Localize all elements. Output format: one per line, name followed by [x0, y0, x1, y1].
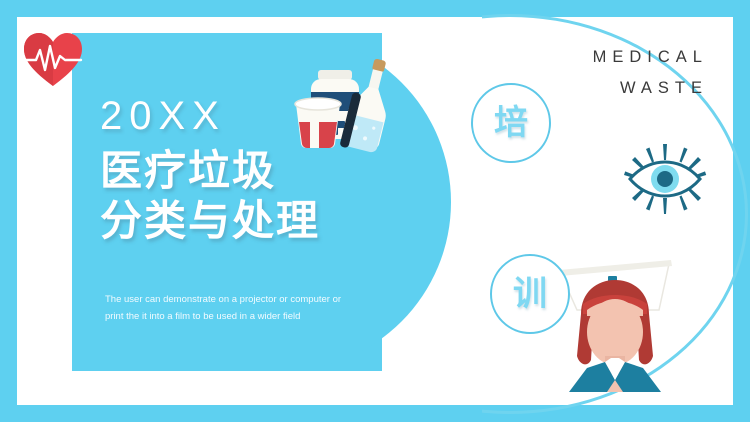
brand-line-2: WASTE: [593, 73, 708, 104]
year-label: 20XX: [100, 96, 400, 136]
badge-ing-label: 训: [513, 277, 547, 311]
slide-root: 培 训 20XX 医疗垃圾 分类与处理 The user can demonst…: [0, 0, 750, 422]
brand-heading: MEDICAL WASTE: [593, 42, 708, 105]
badge-ing[interactable]: 训: [490, 254, 570, 334]
brand-line-1: MEDICAL: [593, 42, 708, 73]
eye-icon: [622, 142, 708, 216]
badge-train-label: 培: [494, 106, 528, 140]
nurse-character-icon: [547, 252, 683, 392]
badge-train[interactable]: 培: [471, 83, 551, 163]
headline-block: 20XX 医疗垃圾 分类与处理: [100, 96, 400, 245]
heart-ecg-icon: [22, 30, 84, 88]
title-line-1: 医疗垃圾: [100, 146, 400, 196]
title-line-2: 分类与处理: [100, 196, 400, 246]
description-text: The user can demonstrate on a projector …: [105, 292, 355, 325]
